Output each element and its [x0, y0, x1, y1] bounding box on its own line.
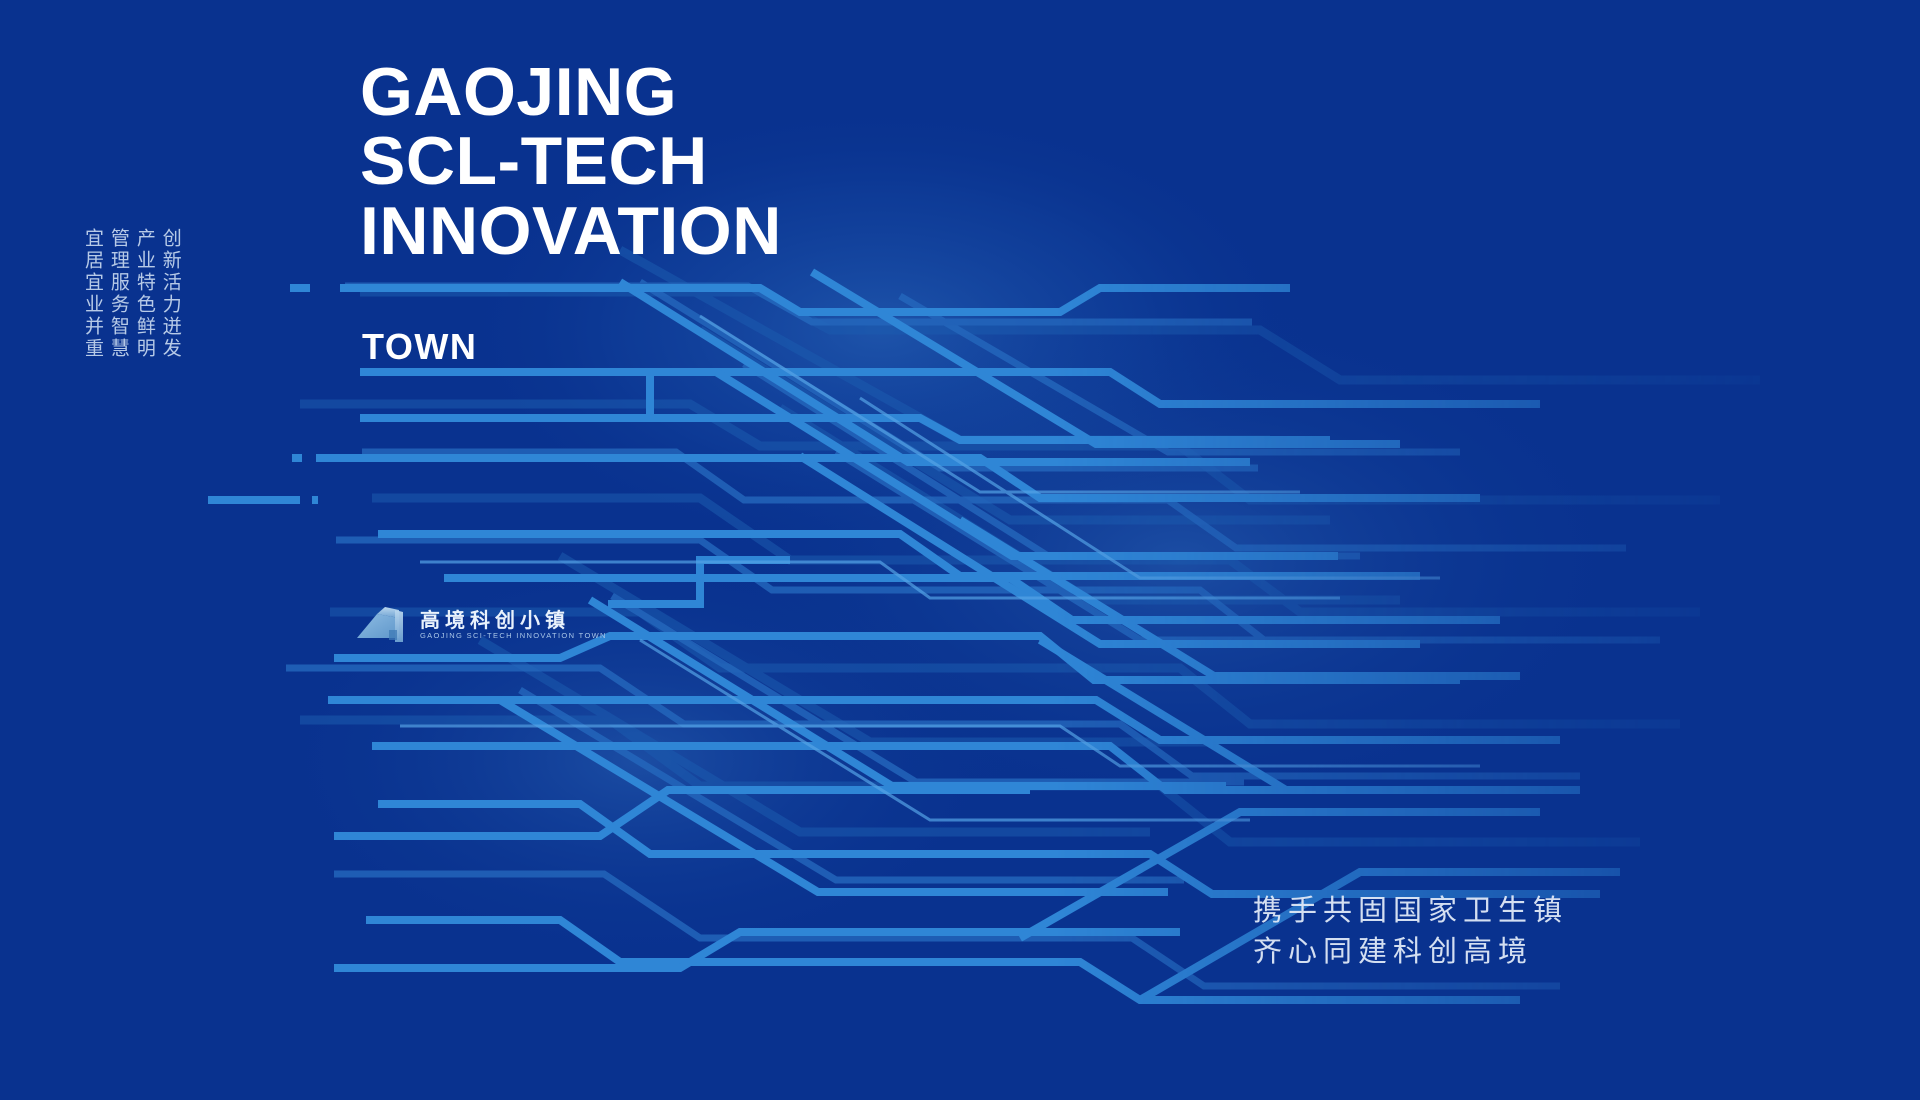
- logo-chinese-name: 高境科创小镇: [420, 610, 607, 630]
- vertical-slogan: 创新活力迸发 产业特色鲜明 管理服务智慧 宜居宜业并重: [82, 228, 180, 360]
- vertical-slogan-column-3: 管理服务智慧: [108, 228, 128, 360]
- headline-line-2: SCL-TECH: [360, 127, 782, 196]
- logo-lockup: 高境科创小镇 GAOJING SCI-TECH INNOVATION TOWN: [355, 604, 607, 646]
- poster-canvas: GAOJING SCL-TECH INNOVATION TOWN 创新活力迸发 …: [0, 0, 1920, 1100]
- headline-line-1: GAOJING: [360, 58, 782, 127]
- house-building-icon: [355, 604, 411, 646]
- vertical-slogan-column-4: 宜居宜业并重: [82, 228, 102, 360]
- bottom-slogan: 携手共固国家卫生镇 齐心同建科创高境: [1253, 890, 1568, 972]
- logo-english-name: GAOJING SCI-TECH INNOVATION TOWN: [420, 632, 607, 640]
- headline-line-3: INNOVATION: [360, 197, 782, 266]
- vertical-slogan-column-2: 产业特色鲜明: [134, 228, 154, 360]
- vertical-slogan-column-1: 创新活力迸发: [160, 228, 180, 360]
- logo-text-block: 高境科创小镇 GAOJING SCI-TECH INNOVATION TOWN: [420, 610, 607, 640]
- bottom-slogan-line-1: 携手共固国家卫生镇: [1253, 890, 1568, 931]
- bottom-slogan-line-2: 齐心同建科创高境: [1253, 931, 1568, 972]
- page-title: GAOJING SCL-TECH INNOVATION: [360, 58, 782, 266]
- headline-subword-town: TOWN: [362, 326, 477, 368]
- circuit-trace-background: [0, 0, 1920, 1100]
